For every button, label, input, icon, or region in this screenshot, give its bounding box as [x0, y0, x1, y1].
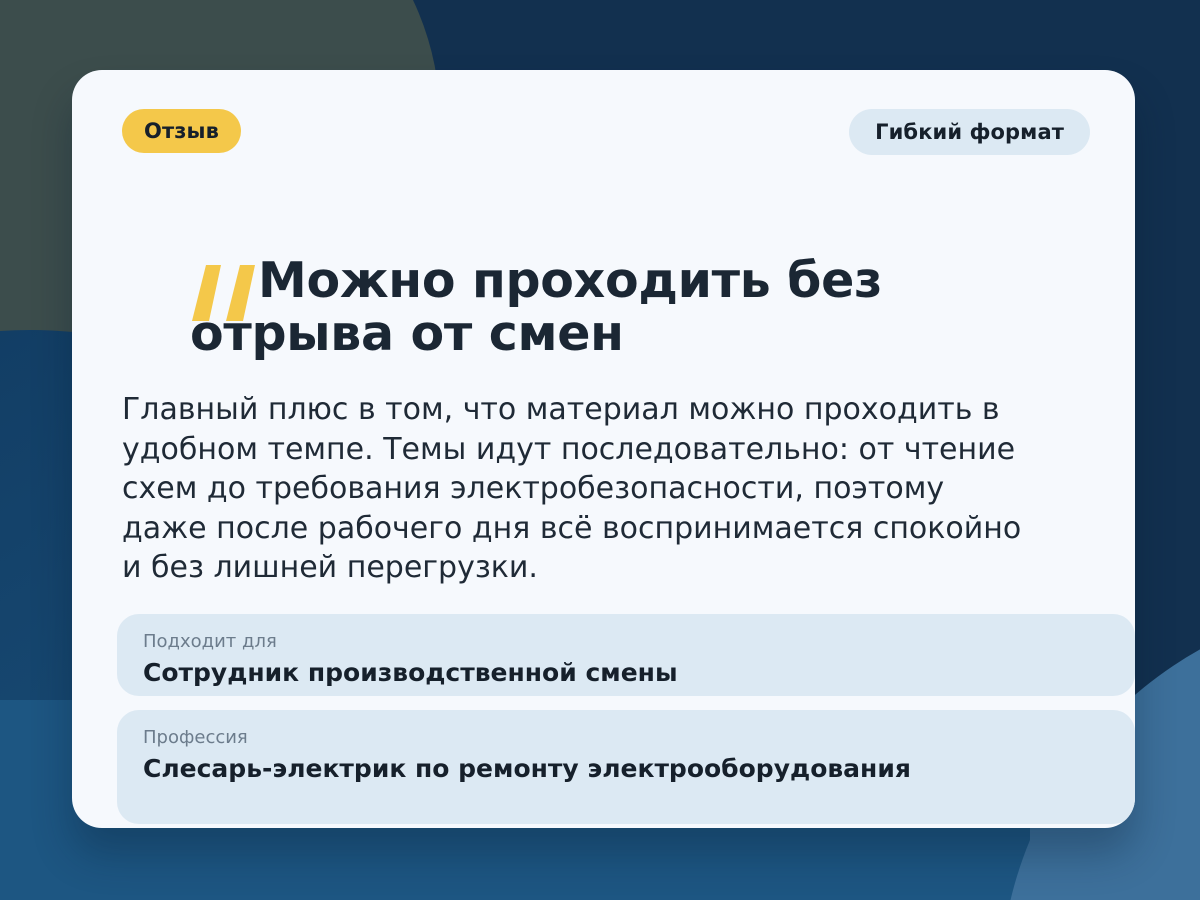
review-type-badge: Отзыв: [122, 109, 241, 153]
info-card-value: Слесарь-электрик по ремонту электрообору…: [143, 754, 1109, 784]
format-badge: Гибкий формат: [849, 109, 1090, 155]
headline-line-2: отрыва от смен: [190, 308, 1072, 361]
headline-block: Можно проходить безотрыва от смен: [122, 255, 1072, 361]
info-card-profession: Профессия Слесарь-электрик по ремонту эл…: [117, 710, 1135, 824]
quote-mark-icon: [190, 263, 258, 321]
headline-line-1: Можно проходить без: [258, 252, 882, 309]
info-card-audience: Подходит для Сотрудник производственной …: [117, 614, 1135, 696]
review-body-text: Главный плюс в том, что материал можно п…: [122, 390, 1022, 588]
info-card-value: Сотрудник производственной смены: [143, 658, 1109, 688]
review-card: Отзыв Гибкий формат Можно проходить безо…: [72, 70, 1135, 828]
badge-row: Отзыв Гибкий формат: [122, 109, 1090, 155]
blue-block-right-shape: [1030, 820, 1200, 900]
page-title: Можно проходить безотрыва от смен: [122, 255, 1072, 361]
info-card-label: Профессия: [143, 728, 1109, 748]
review-slide: Отзыв Гибкий формат Можно проходить безо…: [0, 0, 1200, 900]
info-card-label: Подходит для: [143, 632, 1109, 652]
